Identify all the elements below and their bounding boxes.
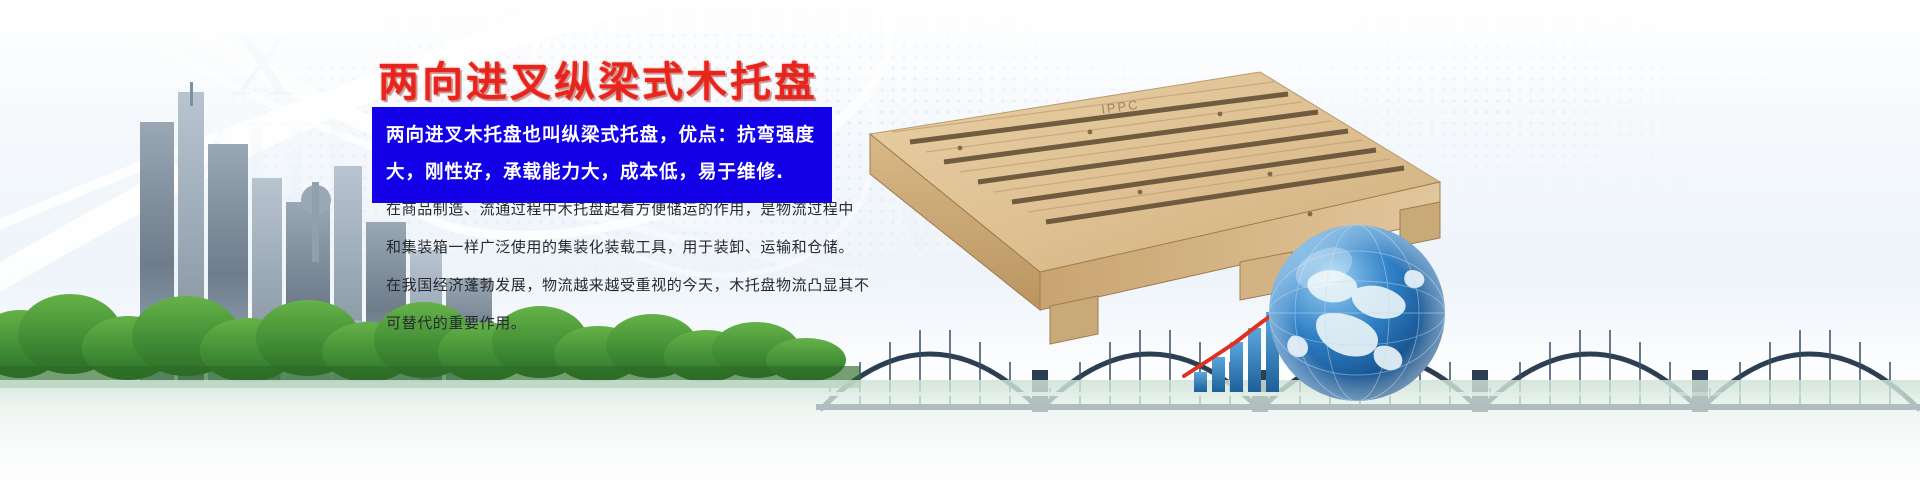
water-reflection (0, 380, 1920, 500)
highlight-callout: 两向进叉木托盘也叫纵梁式托盘，优点：抗弯强度 大，刚性好，承载能力大，成本低，易… (372, 107, 832, 203)
earth-globe-icon (1262, 218, 1452, 408)
page-title: 两向进叉纵梁式木托盘 (378, 48, 818, 108)
body-paragraph-2: 和集装箱一样广泛使用的集装化装载工具，用于装卸、运输和仓储。 (362, 234, 862, 261)
body-copy: 在商品制造、流通过程中木托盘起着方便储运的作用，是物流过程中 和集装箱一样广泛使… (362, 196, 862, 348)
body-paragraph-4: 可替代的重要作用。 (362, 310, 862, 337)
body-paragraph-3: 在我国经济蓬勃发展，物流越来越受重视的今天，木托盘物流凸显其不 (362, 272, 862, 299)
body-paragraph-1: 在商品制造、流通过程中木托盘起着方便储运的作用，是物流过程中 (362, 196, 862, 223)
highlight-line-2: 大，刚性好，承载能力大，成本低，易于维修. (386, 154, 820, 191)
promo-banner: VIII X VII (0, 0, 1920, 500)
highlight-line-1: 两向进叉木托盘也叫纵梁式托盘，优点：抗弯强度 (386, 117, 820, 154)
